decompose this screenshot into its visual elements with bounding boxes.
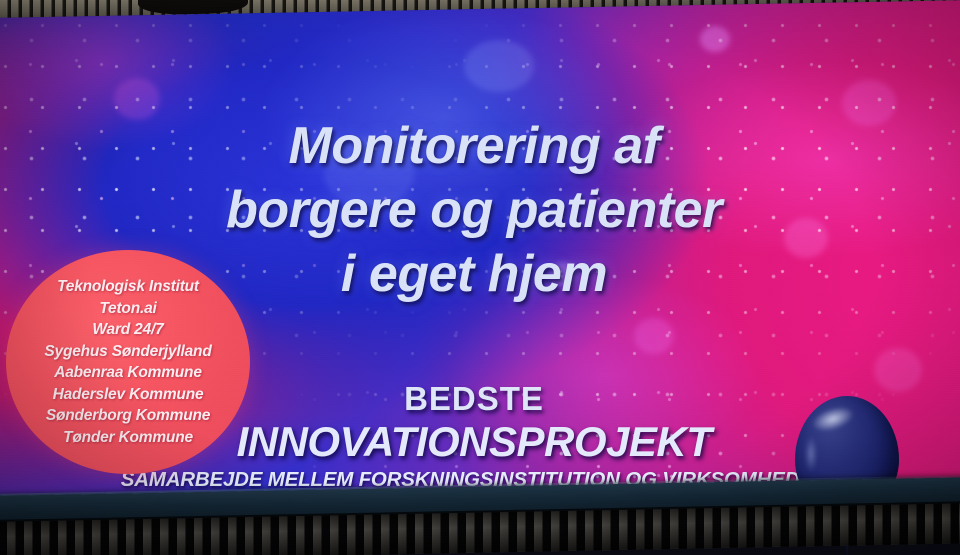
balloon-highlight (809, 402, 858, 437)
photo-scene: Monitorering af borgere og patienter i e… (0, 0, 960, 555)
bokeh-dot (114, 78, 160, 120)
bokeh-dot (784, 218, 828, 258)
list-item: Sygehus Sønderjylland (44, 341, 211, 363)
list-item: Sønderborg Kommune (44, 405, 211, 427)
bokeh-dot (324, 138, 414, 208)
list-item: Teknologisk Institut (44, 276, 211, 298)
bokeh-dot (700, 26, 730, 52)
bokeh-dot (550, 262, 576, 286)
list-item: Teton.ai (44, 298, 211, 320)
bokeh-dot (464, 40, 534, 92)
bokeh-dot (842, 80, 896, 126)
list-item: Haderslev Kommune (44, 384, 211, 406)
partner-list: Teknologisk Institut Teton.ai Ward 24/7 … (44, 276, 211, 448)
list-item: Tønder Kommune (44, 427, 211, 449)
partner-circle: Teknologisk Institut Teton.ai Ward 24/7 … (6, 250, 250, 474)
list-item: Ward 24/7 (44, 319, 211, 341)
list-item: Aabenraa Kommune (44, 362, 211, 384)
bokeh-dot (634, 318, 674, 354)
balloon-highlight-secondary (805, 436, 817, 472)
